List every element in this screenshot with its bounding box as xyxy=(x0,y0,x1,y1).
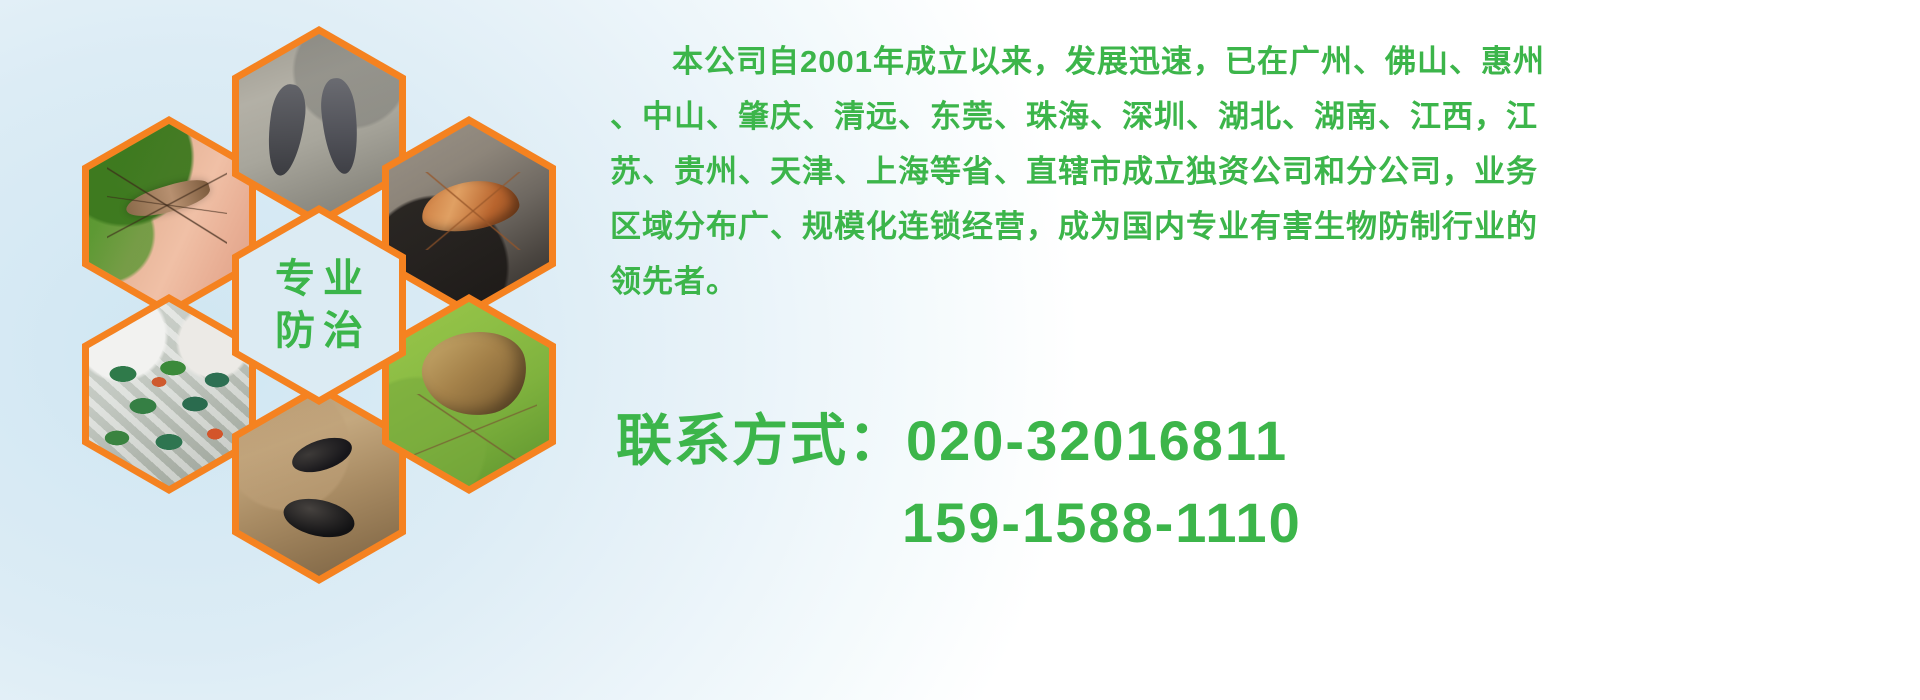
honeycomb-collage: 专业 防治 xyxy=(82,0,602,594)
hex-inner xyxy=(89,124,249,308)
hex-cell-mosquito[interactable] xyxy=(82,116,256,316)
honeycomb-title-line2: 防治 xyxy=(267,311,371,351)
hex-inner xyxy=(389,302,549,486)
ant-photo xyxy=(239,392,399,576)
contact-mobile-line: 159-1588-1110 xyxy=(616,482,1896,564)
hex-cell-title: 专业 防治 xyxy=(232,205,406,405)
honeycomb-title: 专业 防治 xyxy=(239,213,399,397)
cockroach-photo xyxy=(389,124,549,308)
promo-banner: 专业 防治 本公司自2001年成立以来，发展迅速，已在广州、佛山、惠州 、中山、… xyxy=(0,0,1920,700)
contact-block: 联系方式：020-32016811 159-1588-1110 xyxy=(616,400,1896,564)
company-intro: 本公司自2001年成立以来，发展迅速，已在广州、佛山、惠州 、中山、肇庆、清远、… xyxy=(610,34,1870,309)
hex-inner xyxy=(89,302,249,486)
intro-line-5: 领先者。 xyxy=(610,254,1870,309)
intro-line-4: 区域分布广、规模化连锁经营，成为国内专业有害生物防制行业的 xyxy=(610,199,1870,254)
stink-bug-photo xyxy=(389,302,549,486)
contact-label: 联系方式： xyxy=(616,409,906,472)
hex-cell-stink-bug[interactable] xyxy=(382,294,556,494)
hex-cell-rats[interactable] xyxy=(232,26,406,226)
hex-inner xyxy=(239,392,399,576)
mosquito-photo xyxy=(89,124,249,308)
contact-mobile[interactable]: 159-1588-1110 xyxy=(902,491,1302,554)
contact-landline[interactable]: 020-32016811 xyxy=(906,409,1288,472)
hex-inner: 专业 防治 xyxy=(239,213,399,397)
hex-cell-ant[interactable] xyxy=(232,384,406,584)
intro-line-1: 本公司自2001年成立以来，发展迅速，已在广州、佛山、惠州 xyxy=(610,34,1870,89)
hex-cell-cockroach[interactable] xyxy=(382,116,556,316)
rats-photo xyxy=(239,34,399,218)
intro-line-3: 苏、贵州、天津、上海等省、直辖市成立独资公司和分公司，业务 xyxy=(610,144,1870,199)
hex-inner xyxy=(389,124,549,308)
contact-landline-line: 联系方式：020-32016811 xyxy=(616,400,1896,482)
honeycomb-title-line1: 专业 xyxy=(267,259,371,299)
hex-cell-flies[interactable] xyxy=(82,294,256,494)
intro-line-2: 、中山、肇庆、清远、东莞、珠海、深圳、湖北、湖南、江西，江 xyxy=(610,89,1870,144)
flies-photo xyxy=(89,302,249,486)
hex-inner xyxy=(239,34,399,218)
